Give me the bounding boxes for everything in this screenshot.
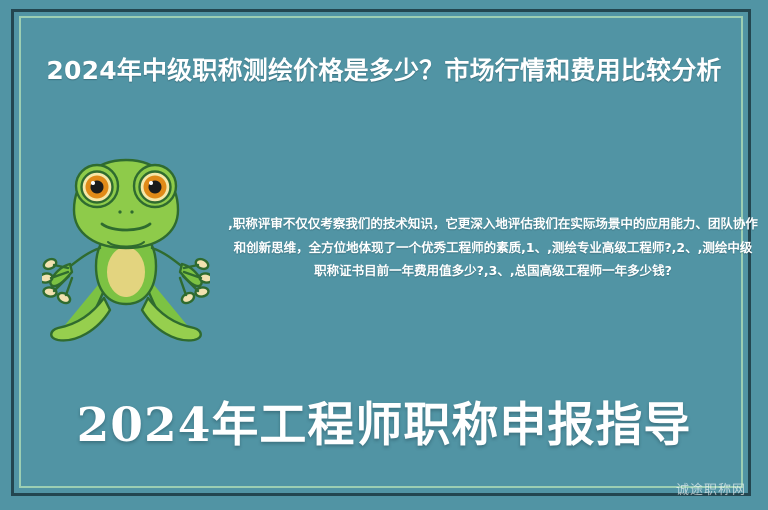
poster-canvas: 2024年中级职称测绘价格是多少？市场行情和费用比较分析 — [0, 0, 768, 510]
frog-illustration — [42, 148, 210, 358]
bottom-headline: 2024年工程师职称申报指导 — [0, 398, 768, 453]
body-paragraph: ,职称评审不仅仅考察我们的技术知识，它更深入地评估我们在实际场景中的应用能力、团… — [228, 212, 758, 283]
site-watermark: 诚途职称网 — [676, 479, 746, 498]
page-title: 2024年中级职称测绘价格是多少？市场行情和费用比较分析 — [0, 56, 768, 86]
